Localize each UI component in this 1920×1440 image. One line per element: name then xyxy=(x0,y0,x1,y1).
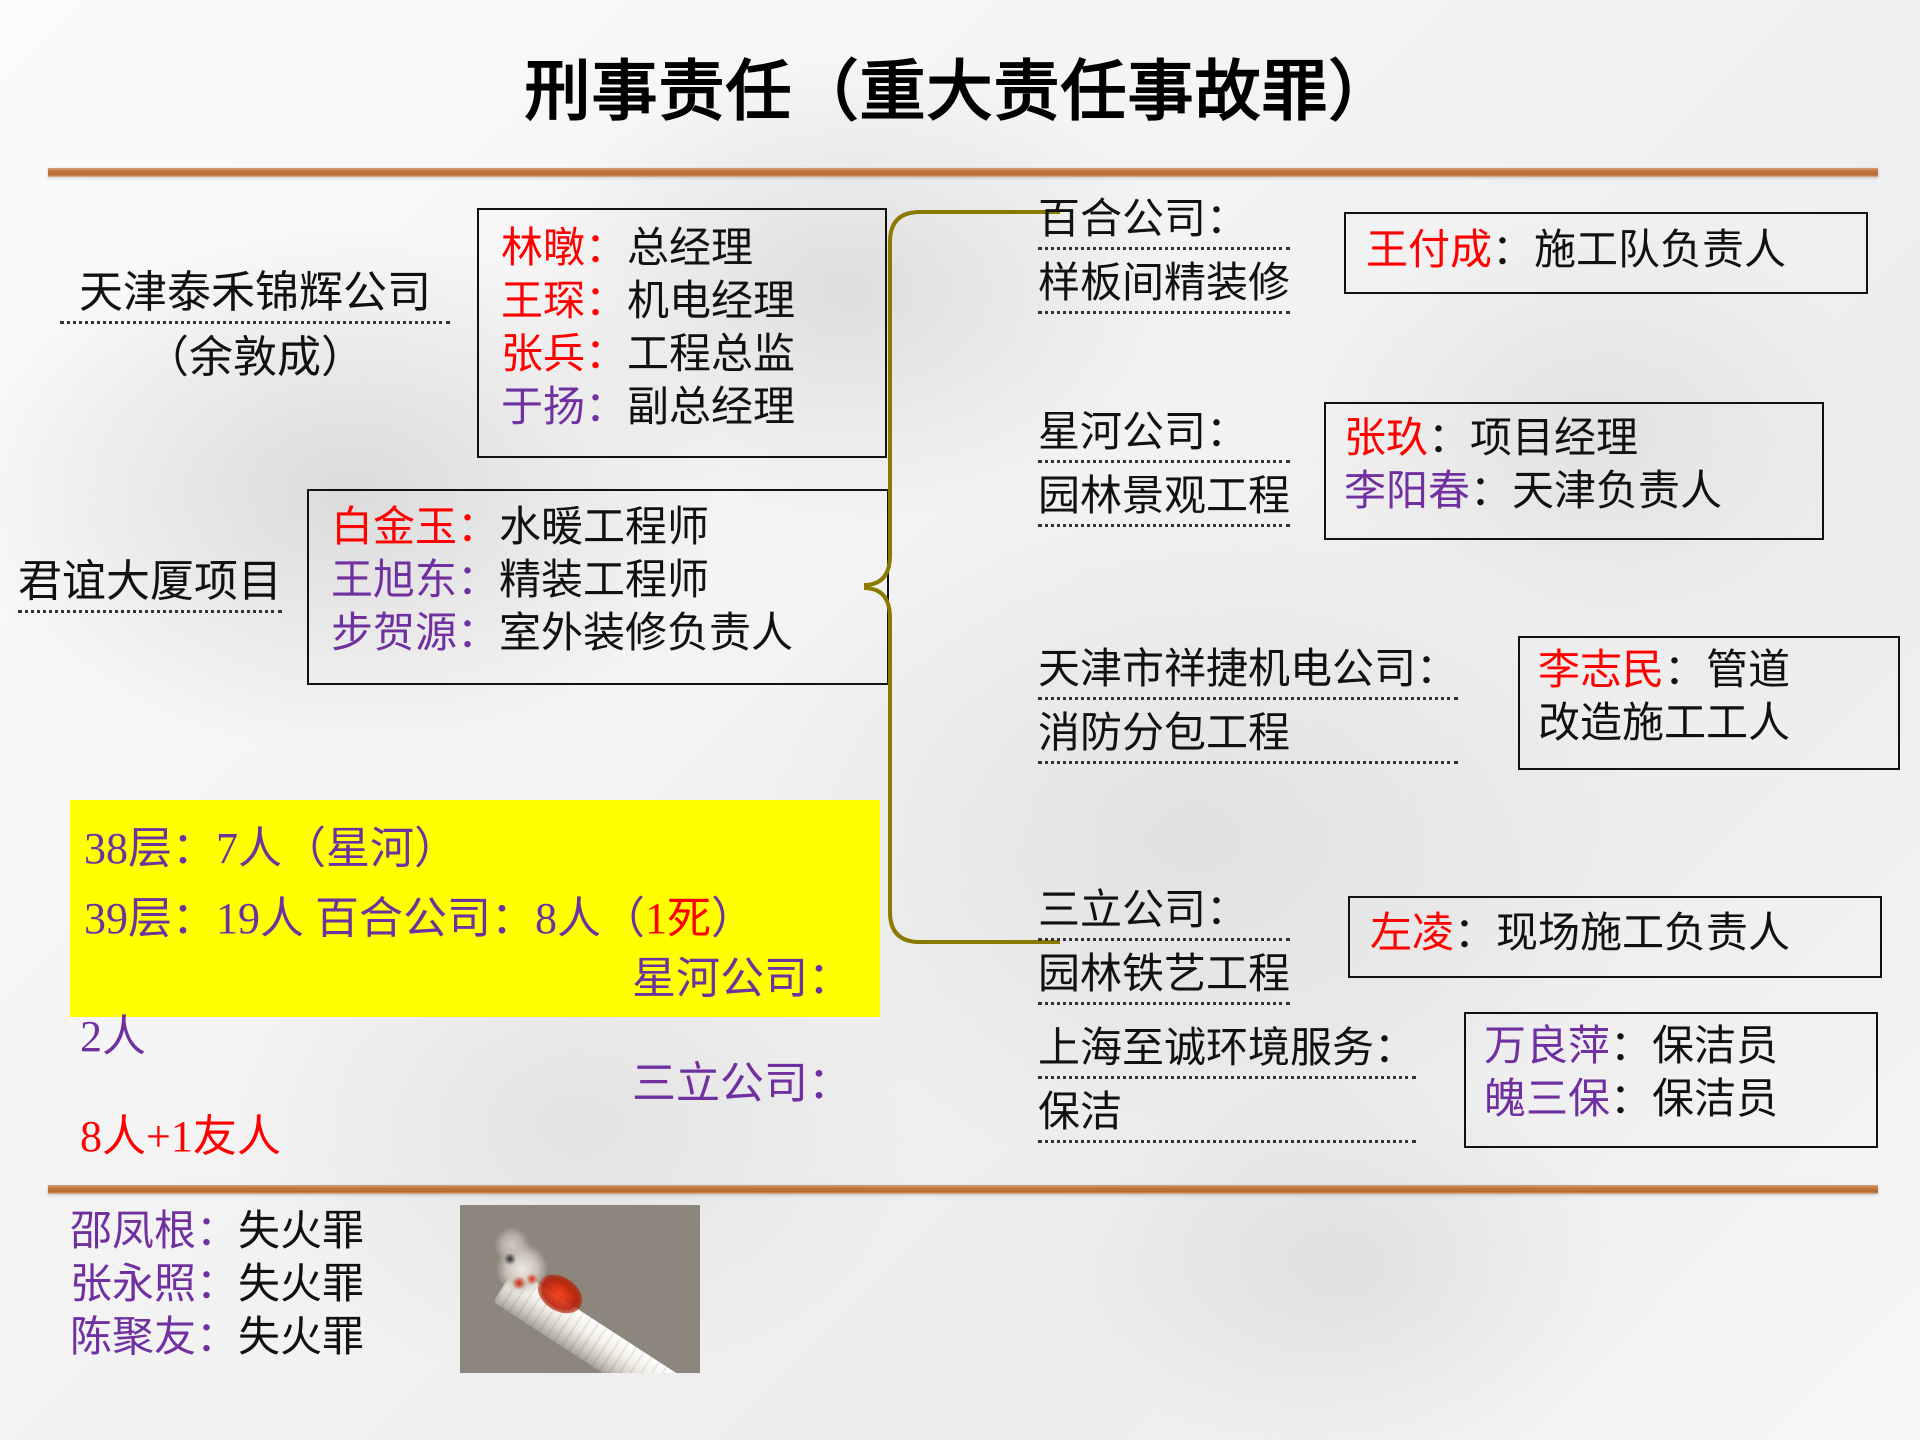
person-role: 项目经理 xyxy=(1470,414,1638,461)
owner-role-row: 林暾：总经理 xyxy=(501,222,795,275)
person-row: 左凌：现场施工负责人 xyxy=(1370,907,1790,960)
project-role-row: 王旭东：精装工程师 xyxy=(331,554,793,607)
casualties-xinghe-count: 2人 xyxy=(80,1000,146,1064)
casualties-deaths: 1死 xyxy=(645,894,711,943)
subcontractor-people-list: 张玖：项目经理 李阳春：天津负责人 xyxy=(1344,412,1722,518)
person-role: 现场施工负责人 xyxy=(1496,909,1790,956)
fire-charge-name: 陈聚友 xyxy=(70,1313,196,1360)
person-name: 李志民 xyxy=(1538,646,1664,693)
fire-charge-name: 邵凤根 xyxy=(70,1207,196,1254)
person-row: 李阳春：天津负责人 xyxy=(1344,465,1722,518)
slide-canvas: 刑事责任（重大责任事故罪） 天津泰禾锦辉公司 （余敦成） 林暾：总经理 王琛：机… xyxy=(0,0,1920,1440)
person-name: 李阳春 xyxy=(1344,467,1470,514)
fire-charge-row: 陈聚友：失火罪 xyxy=(70,1311,364,1364)
person-role: 保洁员 xyxy=(1652,1075,1778,1122)
person-sep: ： xyxy=(1492,226,1534,273)
subcontractor-people-list: 左凌：现场施工负责人 xyxy=(1370,907,1790,960)
project-role-title: 室外装修负责人 xyxy=(499,609,793,656)
fire-charge-offence: 失火罪 xyxy=(238,1313,364,1360)
divider-bottom xyxy=(48,1185,1878,1194)
fire-charge-offence: 失火罪 xyxy=(238,1207,364,1254)
project-role-sep: ： xyxy=(457,609,499,656)
subcontractor-people-box: 万良萍：保洁员 魄三保：保洁员 xyxy=(1464,1012,1878,1148)
person-sep: ： xyxy=(1664,646,1706,693)
subcontractor-scope: 消防分包工程 xyxy=(1038,707,1458,764)
person-name: 魄三保 xyxy=(1484,1075,1610,1122)
owner-roles-list: 林暾：总经理 王琛：机电经理 张兵：工程总监 于扬：副总经理 xyxy=(501,222,795,434)
owner-role-name: 林暾 xyxy=(501,224,585,271)
owner-roles-box: 林暾：总经理 王琛：机电经理 张兵：工程总监 于扬：副总经理 xyxy=(477,208,887,458)
project-roles-list: 白金玉：水暖工程师 王旭东：精装工程师 步贺源：室外装修负责人 xyxy=(331,501,793,660)
fire-charges-list: 邵凤根：失火罪 张永照：失火罪 陈聚友：失火罪 xyxy=(70,1205,364,1364)
owner-role-title: 总经理 xyxy=(627,224,753,271)
subcontractor-label: 星河公司： 园林景观工程 xyxy=(1038,406,1290,527)
person-role-cont: 改造施工工人 xyxy=(1538,699,1790,746)
subcontractor-people-box: 左凌：现场施工负责人 xyxy=(1348,896,1882,978)
project-role-name: 王旭东 xyxy=(331,556,457,603)
project-role-name: 白金玉 xyxy=(331,503,457,550)
owner-role-name: 张兵 xyxy=(501,330,585,377)
person-sep: ： xyxy=(1428,414,1470,461)
subcontractor-name: 三立公司： xyxy=(1038,884,1290,941)
subcontractor-people-list: 万良萍：保洁员 魄三保：保洁员 xyxy=(1484,1020,1778,1126)
person-name: 张玖 xyxy=(1344,414,1428,461)
person-row: 万良萍：保洁员 xyxy=(1484,1020,1778,1073)
person-sep: ： xyxy=(1610,1075,1652,1122)
casualties-line1: 38层：7人（星河） xyxy=(84,812,458,876)
person-row: 魄三保：保洁员 xyxy=(1484,1073,1778,1126)
project-role-name: 步贺源 xyxy=(331,609,457,656)
project-label: 君谊大厦项目 xyxy=(18,545,282,613)
owner-company-line2: （余敦成） xyxy=(145,330,365,385)
project-roles-box: 白金玉：水暖工程师 王旭东：精装工程师 步贺源：室外装修负责人 xyxy=(307,489,889,685)
owner-role-row: 张兵：工程总监 xyxy=(501,328,795,381)
page-title: 刑事责任（重大责任事故罪） xyxy=(0,55,1920,128)
subcontractor-people-box: 王付成：施工队负责人 xyxy=(1344,212,1868,294)
casualties-floor39: 39层：19人 xyxy=(84,894,315,943)
owner-role-name: 王琛 xyxy=(501,277,585,324)
subcontractor-people-list: 李志民：管道 改造施工工人 xyxy=(1538,644,1790,750)
subcontractor-name: 星河公司： xyxy=(1038,406,1290,463)
subcontractor-label: 百合公司： 样板间精装修 xyxy=(1038,193,1290,314)
person-row: 改造施工工人 xyxy=(1538,697,1790,750)
owner-company-label: 天津泰禾锦辉公司 （余敦成） xyxy=(60,265,450,386)
casualties-paren-close: ） xyxy=(711,894,755,943)
owner-role-sep: ： xyxy=(585,224,627,271)
fire-charge-sep: ： xyxy=(196,1313,238,1360)
subcontractor-scope: 园林铁艺工程 xyxy=(1038,948,1290,1005)
person-name: 王付成 xyxy=(1366,226,1492,273)
casualties-xinghe-label: 星河公司： xyxy=(632,942,852,1006)
person-row: 张玖：项目经理 xyxy=(1344,412,1722,465)
owner-role-sep: ： xyxy=(585,277,627,324)
owner-role-sep: ： xyxy=(585,383,627,430)
casualties-sanli-label: 三立公司： xyxy=(632,1047,852,1111)
fire-charge-offence: 失火罪 xyxy=(238,1260,364,1307)
person-role: 管道 xyxy=(1706,646,1790,693)
person-sep: ： xyxy=(1454,909,1496,956)
project-role-sep: ： xyxy=(457,503,499,550)
subcontractor-scope: 园林景观工程 xyxy=(1038,470,1290,527)
subcontractor-label: 三立公司： 园林铁艺工程 xyxy=(1038,884,1290,1005)
subcontractor-scope: 保洁 xyxy=(1038,1086,1416,1143)
person-sep: ： xyxy=(1610,1022,1652,1069)
person-name: 左凌 xyxy=(1370,909,1454,956)
casualties-total: 8人+1友人 xyxy=(80,1100,281,1164)
person-role: 保洁员 xyxy=(1652,1022,1778,1069)
fire-charge-name: 张永照 xyxy=(70,1260,196,1307)
person-role: 施工队负责人 xyxy=(1534,226,1786,273)
project-role-sep: ： xyxy=(457,556,499,603)
person-sep: ： xyxy=(1470,467,1512,514)
fire-charge-row: 张永照：失火罪 xyxy=(70,1258,364,1311)
person-role: 天津负责人 xyxy=(1512,467,1722,514)
subcontractor-name: 上海至诚环境服务： xyxy=(1038,1022,1416,1079)
connector-bracket xyxy=(860,170,1060,970)
fire-charge-row: 邵凤根：失火罪 xyxy=(70,1205,364,1258)
person-name: 万良萍 xyxy=(1484,1022,1610,1069)
owner-role-name: 于扬 xyxy=(501,383,585,430)
cigarette-photo xyxy=(460,1205,700,1373)
fire-charge-sep: ： xyxy=(196,1260,238,1307)
owner-role-title: 副总经理 xyxy=(627,383,795,430)
subcontractor-label: 天津市祥捷机电公司： 消防分包工程 xyxy=(1038,643,1458,764)
project-role-title: 水暖工程师 xyxy=(499,503,709,550)
project-role-row: 白金玉：水暖工程师 xyxy=(331,501,793,554)
owner-role-sep: ： xyxy=(585,330,627,377)
cigarette-ash xyxy=(486,1239,558,1301)
subcontractor-label: 上海至诚环境服务： 保洁 xyxy=(1038,1022,1416,1143)
owner-role-title: 机电经理 xyxy=(627,277,795,324)
subcontractor-scope: 样板间精装修 xyxy=(1038,257,1290,314)
subcontractor-people-box: 张玖：项目经理 李阳春：天津负责人 xyxy=(1324,402,1824,540)
project-role-row: 步贺源：室外装修负责人 xyxy=(331,607,793,660)
owner-company-line1: 天津泰禾锦辉公司 xyxy=(60,265,450,324)
subcontractor-name: 百合公司： xyxy=(1038,193,1290,250)
subcontractor-people-box: 李志民：管道 改造施工工人 xyxy=(1518,636,1900,770)
owner-role-row: 于扬：副总经理 xyxy=(501,381,795,434)
owner-role-title: 工程总监 xyxy=(627,330,795,377)
project-role-title: 精装工程师 xyxy=(499,556,709,603)
fire-charge-sep: ： xyxy=(196,1207,238,1254)
casualties-baihe: 百合公司：8人（ xyxy=(315,894,645,943)
person-row: 李志民：管道 xyxy=(1538,644,1790,697)
casualties-line2: 39层：19人 百合公司：8人（1死） xyxy=(84,882,755,946)
subcontractor-name: 天津市祥捷机电公司： xyxy=(1038,643,1458,700)
subcontractor-people-list: 王付成：施工队负责人 xyxy=(1366,224,1786,277)
person-row: 王付成：施工队负责人 xyxy=(1366,224,1786,277)
owner-role-row: 王琛：机电经理 xyxy=(501,275,795,328)
